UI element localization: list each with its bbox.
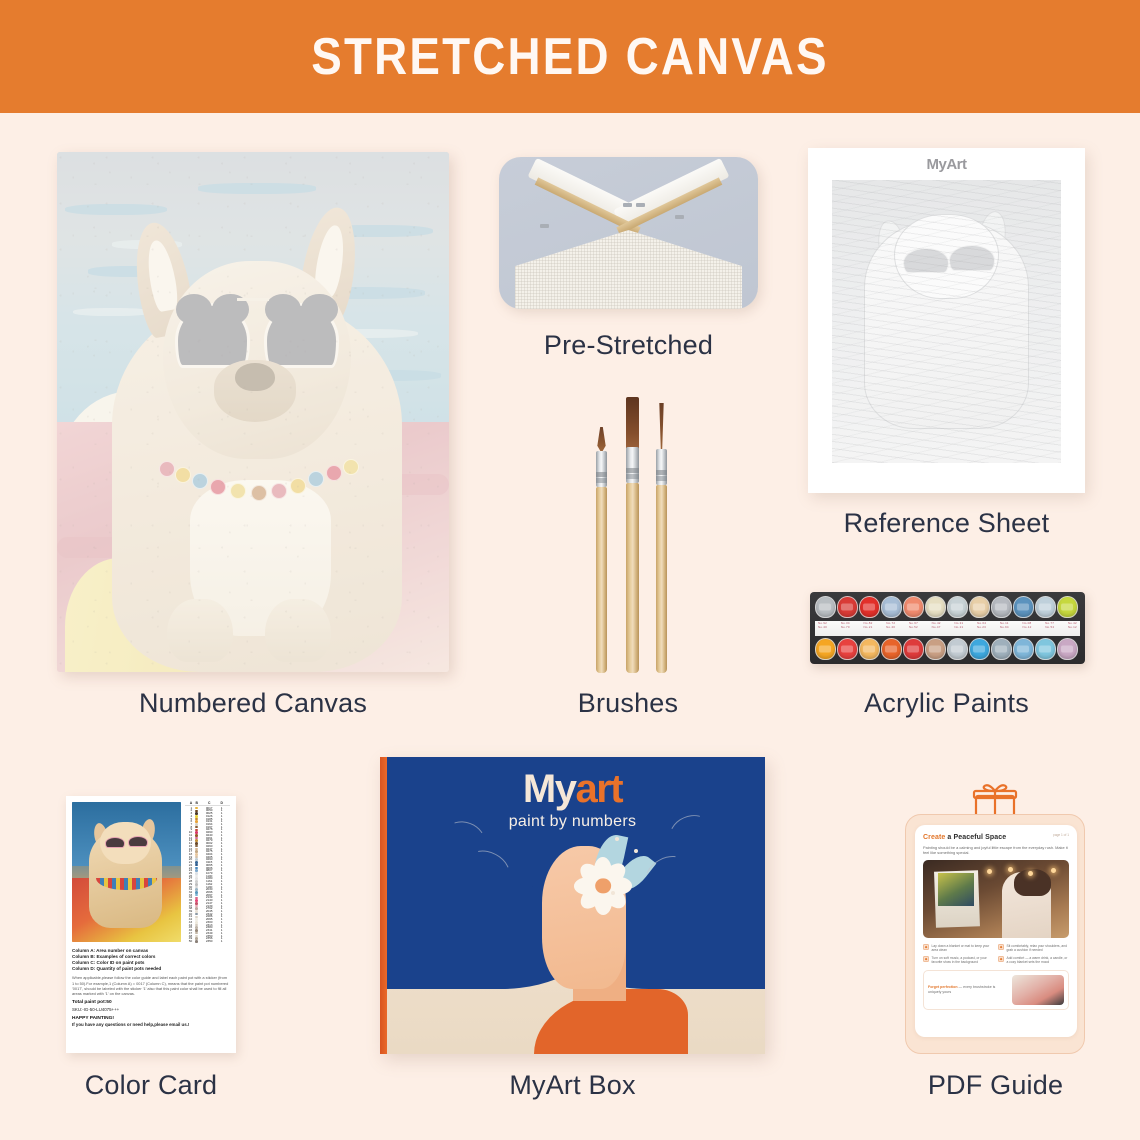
music-icon: ◆ xyxy=(923,956,929,962)
color-card-table: A B C D 10017120050130025140126150185160… xyxy=(185,802,230,943)
pdf-title: Create a Peaceful Space xyxy=(923,833,1069,842)
brushes-image xyxy=(588,388,678,673)
paint-pot-row-bottom xyxy=(815,638,1078,660)
reference-sheet-image: MyArt xyxy=(808,148,1085,493)
warm-light xyxy=(1051,868,1056,873)
paint-pot xyxy=(881,596,902,618)
staple-icon xyxy=(636,203,645,207)
paint-pot xyxy=(859,596,880,618)
box-tagline: paint by numbers xyxy=(380,813,765,831)
paint-pot xyxy=(1057,638,1078,660)
brush-handle xyxy=(626,483,639,673)
logo-my-text: My xyxy=(523,767,576,811)
pdf-tip: ◆Lay down a blanket or mat to keep your … xyxy=(923,944,993,953)
paint-pot xyxy=(837,596,858,618)
pot-id-label: No.12 xyxy=(1022,626,1031,630)
paint-pot xyxy=(1057,596,1078,618)
th-b: B xyxy=(193,802,200,805)
product-infographic: STRETCHED CANVAS xyxy=(0,0,1140,1140)
staple-icon xyxy=(675,215,684,219)
pdf-tip-text: Add comfort — a warm drink, a candle, or… xyxy=(1007,956,1069,965)
pdf-title-highlight: Create xyxy=(923,834,945,841)
brush-ferrule xyxy=(656,449,667,485)
pot-id-label: No.40 xyxy=(886,626,895,630)
label-myart-box: MyArt Box xyxy=(380,1070,765,1101)
paint-pot xyxy=(947,638,968,660)
daisy-flower-icon xyxy=(580,864,626,909)
brush-bristles xyxy=(596,427,607,453)
paint-pot xyxy=(815,596,836,618)
pot-id-label: No.70 xyxy=(841,626,850,630)
pdf-tip: ◆Turn on soft music, a podcast, or your … xyxy=(923,956,993,965)
pdf-title-rest: a Peaceful Space xyxy=(945,834,1006,841)
pdf-tip: ◆Add comfort — a warm drink, a candle, o… xyxy=(998,956,1068,965)
brush-flat xyxy=(626,397,639,673)
pdf-tip-list: ◆Lay down a blanket or mat to keep your … xyxy=(923,944,1069,964)
pot-id-label: No.21 xyxy=(863,626,872,630)
paint-pot xyxy=(837,638,858,660)
logo-art-text: art xyxy=(575,767,622,811)
label-pre-stretched: Pre-Stretched xyxy=(499,330,758,361)
mat-icon: ◆ xyxy=(923,944,929,950)
ref-contour-lines xyxy=(832,180,1061,463)
paint-pot xyxy=(925,596,946,618)
cc-lens-right xyxy=(128,836,149,847)
paint-pot xyxy=(903,596,924,618)
paint-pot xyxy=(903,638,924,660)
cell-quantity: 1 xyxy=(218,940,225,943)
paint-pot xyxy=(1013,596,1034,618)
pdf-subtitle: Painting should be a calming and joyful … xyxy=(923,845,1069,855)
label-color-card: Color Card xyxy=(56,1070,246,1101)
label-acrylic-paints: Acrylic Paints xyxy=(808,688,1085,719)
pre-stretched-image xyxy=(499,157,758,309)
warm-light xyxy=(1008,867,1013,872)
paint-pot xyxy=(1013,638,1034,660)
paint-pot xyxy=(991,596,1012,618)
color-card-top: A B C D 10017120050130025140126150185160… xyxy=(72,802,230,943)
paint-pot xyxy=(925,638,946,660)
warm-light xyxy=(987,869,992,874)
daisy-core xyxy=(595,879,611,894)
color-card-instructions: When applicable,please follow the color … xyxy=(72,975,230,996)
color-card-photo xyxy=(72,802,181,942)
color-card-rows: 1001712005013002514012615018516013117016… xyxy=(185,807,230,943)
pdf-note-text: Forget perfection — every brushstroke is… xyxy=(928,985,1007,995)
myart-box-image: Myart paint by numbers xyxy=(380,757,765,1054)
reference-outline-artwork xyxy=(832,180,1061,463)
cell-area-number: 50 xyxy=(185,940,192,943)
pot-id-label: No.21 xyxy=(954,626,963,630)
cell-color-swatch xyxy=(193,940,200,943)
pot-id-label: No.47 xyxy=(932,626,941,630)
legend-line: Column D: Quantity of paint pots needed xyxy=(72,966,230,972)
brush-liner xyxy=(656,403,667,673)
canvas-weave xyxy=(515,230,743,309)
pot-id-label: No.40 xyxy=(818,626,827,630)
page-title: STRETCHED CANVAS xyxy=(311,27,828,87)
pdf-tip: ◆Sit comfortably, relax your shoulders, … xyxy=(998,944,1068,953)
cell-color-id: 2350 xyxy=(201,940,217,943)
paint-pot xyxy=(1035,638,1056,660)
color-card-row: 5023501 xyxy=(185,940,230,943)
paint-pot xyxy=(859,638,880,660)
color-card-legend: Column A: Area number on canvas Column B… xyxy=(72,948,230,973)
paint-pot xyxy=(969,638,990,660)
pdf-guide-card: page 1 of 1 Create a Peaceful Space Pain… xyxy=(905,814,1085,1054)
label-brushes: Brushes xyxy=(498,688,758,719)
label-pdf-guide: PDF Guide xyxy=(898,1070,1093,1101)
pot-id-label: No.94 xyxy=(1000,626,1009,630)
paint-pot xyxy=(1035,596,1056,618)
color-card-sku: SKU:-IG-50-LU4075+++ xyxy=(72,1007,230,1013)
pot-id-label: No.54 xyxy=(1045,626,1054,630)
brush-bristles xyxy=(656,403,667,451)
brush-round xyxy=(596,435,607,673)
pdf-photo xyxy=(923,860,1069,938)
label-numbered-canvas: Numbered Canvas xyxy=(57,688,449,719)
staple-icon xyxy=(623,203,632,207)
th-d: D xyxy=(218,802,225,805)
canvas-pale-wash xyxy=(57,152,449,672)
acrylic-paints-tray: No.92No.34No.82No.72No.67No.42No.31No.04… xyxy=(810,592,1085,664)
brush-ferrule xyxy=(626,447,639,483)
pdf-note-thumbnail xyxy=(1012,975,1064,1005)
paint-pot-row-top xyxy=(815,596,1078,618)
sparkle-dot xyxy=(611,891,615,895)
drink-icon: ◆ xyxy=(998,956,1004,962)
th-a: A xyxy=(185,802,192,805)
pdf-note-bold: Forget perfection xyxy=(928,985,958,989)
pdf-guide-image: page 1 of 1 Create a Peaceful Space Pain… xyxy=(905,782,1085,1054)
myart-logo-grey: MyArt xyxy=(808,156,1085,173)
pdf-page-number: page 1 of 1 xyxy=(1053,833,1069,837)
brush-ferrule xyxy=(596,451,607,487)
tray-label-strip: No.92No.34No.82No.72No.67No.42No.31No.04… xyxy=(815,621,1080,636)
pot-id-label: No.52 xyxy=(909,626,918,630)
pot-id-label: No.12 xyxy=(1068,626,1077,630)
frame-bar-right xyxy=(613,158,729,229)
paint-pot xyxy=(991,638,1012,660)
canvas-artwork xyxy=(57,152,449,672)
cc-lens-left xyxy=(105,837,126,848)
pot-id-label: No.23 xyxy=(977,626,986,630)
cushion-icon: ◆ xyxy=(998,944,1004,950)
paint-pot xyxy=(815,638,836,660)
warm-light xyxy=(1028,871,1033,876)
painting-on-easel xyxy=(938,873,975,906)
page-header: STRETCHED CANVAS xyxy=(0,0,1140,113)
brush-bristles xyxy=(626,397,639,449)
paint-pot xyxy=(969,596,990,618)
myart-logo: Myart xyxy=(380,767,765,811)
th-c: C xyxy=(201,802,217,805)
paint-pot xyxy=(881,638,902,660)
pdf-tip-text: Lay down a blanket or mat to keep your a… xyxy=(932,944,994,953)
paint-pot xyxy=(947,596,968,618)
label-reference-sheet: Reference Sheet xyxy=(808,508,1085,539)
pdf-note: Forget perfection — every brushstroke is… xyxy=(923,970,1069,1010)
brush-handle xyxy=(596,487,607,673)
tray-id-row-bottom: No.40No.70No.21No.40No.52No.47No.21No.23… xyxy=(818,626,1077,630)
color-card-help: If you have any questions or need help,p… xyxy=(72,1022,230,1028)
color-card-image: A B C D 10017120050130025140126150185160… xyxy=(66,796,236,1053)
pdf-guide-page: page 1 of 1 Create a Peaceful Space Pain… xyxy=(915,825,1077,1037)
pdf-tip-text: Turn on soft music, a podcast, or your f… xyxy=(932,956,994,965)
pdf-tip-text: Sit comfortably, relax your shoulders, a… xyxy=(1007,944,1069,953)
staple-icon xyxy=(540,224,549,228)
numbered-canvas-image xyxy=(57,152,449,672)
brush-handle xyxy=(656,485,667,673)
